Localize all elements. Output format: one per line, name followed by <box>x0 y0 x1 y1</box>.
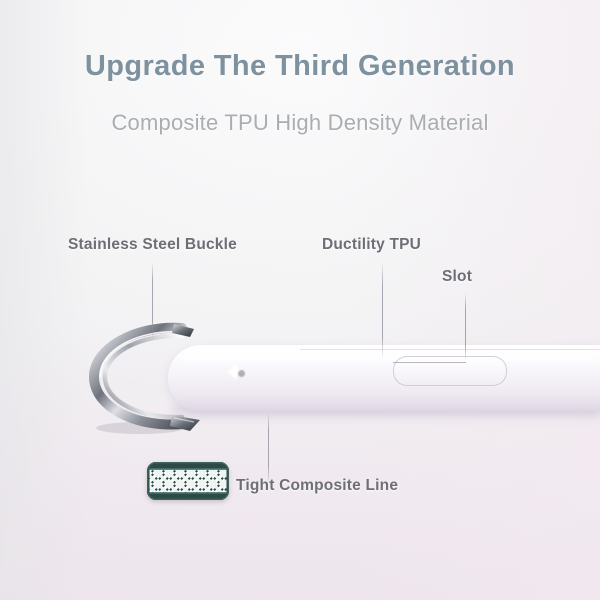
background-right-tint <box>340 0 600 600</box>
weave-pattern-icon <box>147 462 229 500</box>
leader-line-tight-composite-line <box>268 412 269 484</box>
callout-label-ductility-tpu: Ductility TPU <box>322 236 421 254</box>
leader-line-stainless-steel-buckle <box>152 262 153 340</box>
callout-label-slot: Slot <box>442 268 472 286</box>
attachment-slot <box>393 356 507 386</box>
stainless-steel-d-ring-buckle-icon <box>78 312 210 438</box>
leader-line-slot <box>465 292 466 362</box>
woven-composite-line-swatch <box>147 462 229 500</box>
leader-line-slot-horizontal <box>393 362 466 363</box>
page-subtitle: Composite TPU High Density Material <box>0 110 600 136</box>
strap-speck <box>238 370 245 377</box>
strap-gloss-highlight <box>182 352 594 365</box>
page-title: Upgrade The Third Generation <box>0 50 600 83</box>
leader-line-ductility-tpu <box>382 262 383 360</box>
product-infographic: Upgrade The Third Generation Composite T… <box>0 0 600 600</box>
background-left-vignette <box>0 0 90 600</box>
callout-label-stainless-steel-buckle: Stainless Steel Buckle <box>68 236 237 254</box>
strap-seam-line <box>300 349 600 350</box>
callout-label-tight-composite-line: Tight Composite Line <box>236 477 398 495</box>
